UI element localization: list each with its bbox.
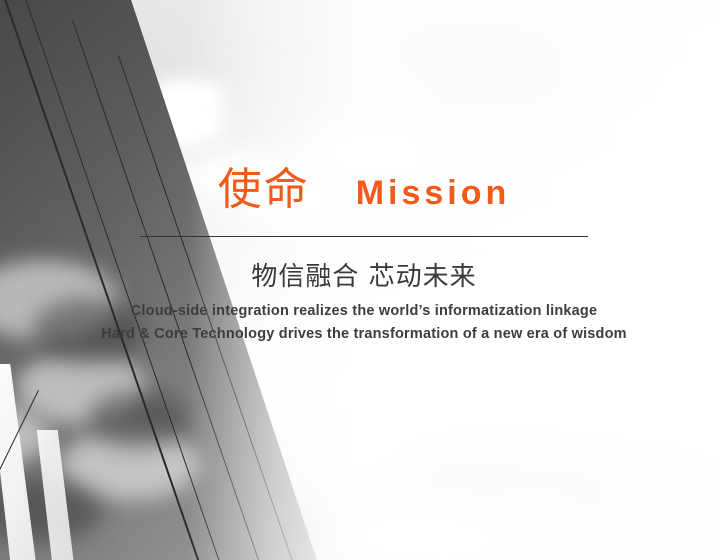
heading-divider xyxy=(140,236,588,237)
subtitle-chinese: 物信融合 芯动未来 xyxy=(140,256,588,293)
tagline-line-2: Hard & Core Technology drives the transf… xyxy=(60,323,668,346)
hero-heading: 使命 Mission xyxy=(140,168,588,212)
heading-english: Mission xyxy=(356,176,511,210)
tagline-line-1: Cloud-side integration realizes the worl… xyxy=(60,300,668,323)
heading-chinese: 使命 xyxy=(218,168,310,212)
tagline-block: Cloud-side integration realizes the worl… xyxy=(60,300,668,346)
hero-banner: 使命 Mission 物信融合 芯动未来 Cloud-side integrat… xyxy=(0,0,720,560)
hero-content: 使命 Mission 物信融合 芯动未来 Cloud-side integrat… xyxy=(0,0,720,560)
